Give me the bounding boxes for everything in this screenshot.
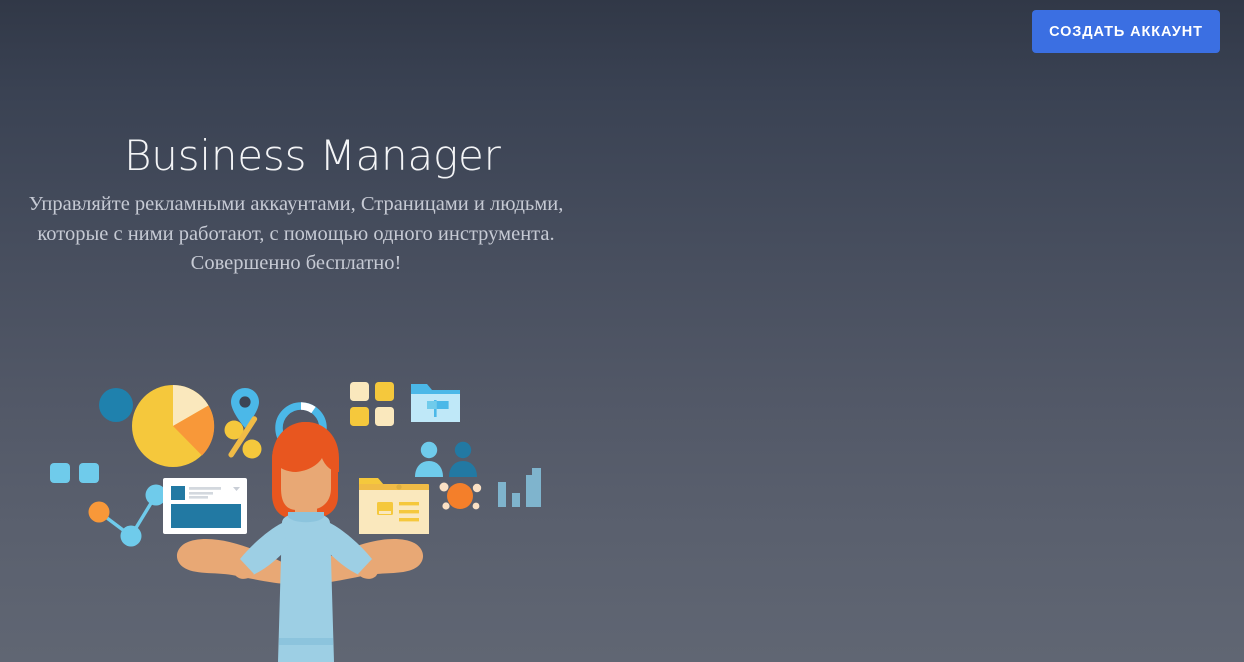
tile-grid-blue-icon [50,463,99,483]
node-cluster-icon [440,483,482,510]
hero-section: Business Manager Управляйте рекламными а… [0,132,600,279]
page-title: Business Manager [0,132,600,179]
folder-page-card-icon [359,478,429,534]
people-pair-icon [415,442,477,477]
landing-page: СОЗДАТЬ АККАУНТ Business Manager Управля… [0,0,1244,662]
hero-illustration [0,360,600,662]
folder-flag-card-icon [411,384,460,422]
hero-subtitle: Управляйте рекламными аккаунтами, Страни… [0,190,600,279]
create-account-button[interactable]: СОЗДАТЬ АККАУНТ [1032,10,1220,53]
bar-chart-icon [498,468,541,507]
blue-circle-icon [99,388,133,422]
illustration-canvas [0,360,600,662]
browser-window-card [163,478,247,534]
line-chart-icon [89,485,167,547]
person-figure [177,422,423,662]
tile-grid-yellow-icon [350,382,394,426]
pie-chart-icon [132,385,214,467]
